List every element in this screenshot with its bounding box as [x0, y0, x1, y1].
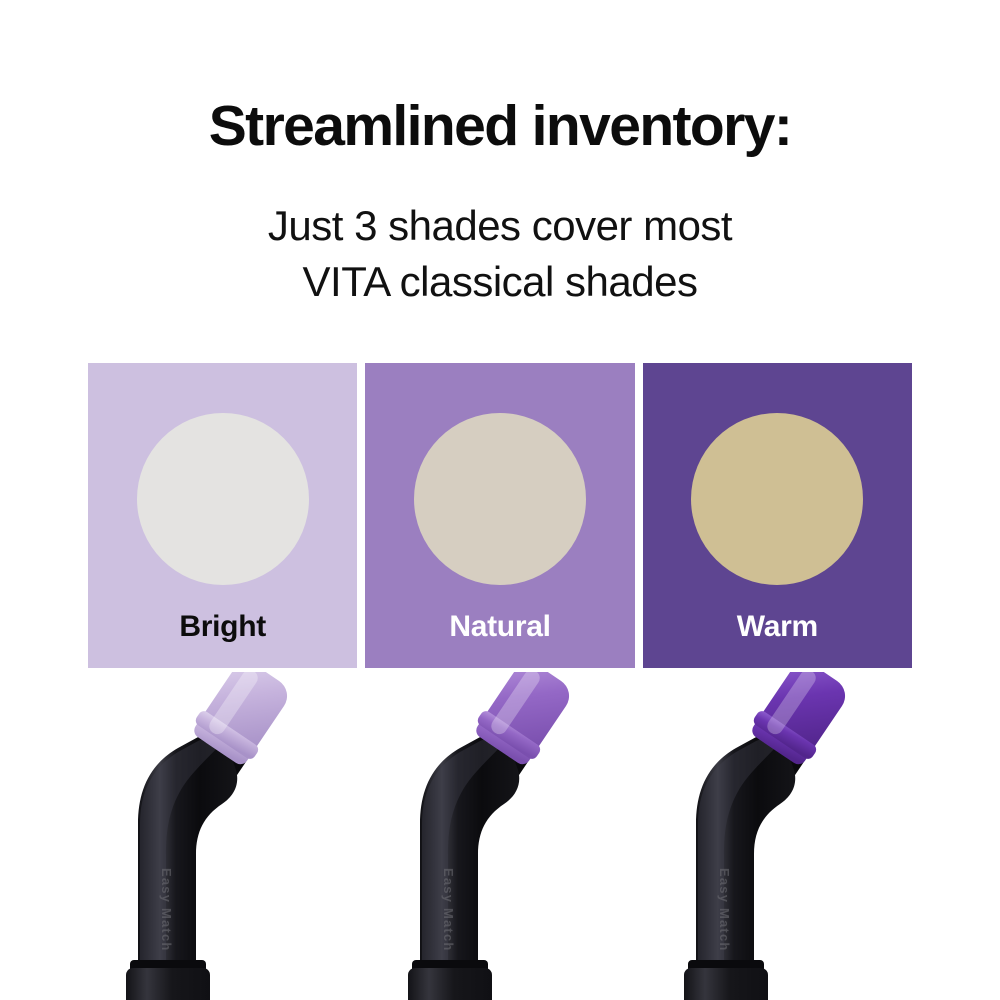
page-subtitle-line-1: Just 3 shades cover most	[0, 198, 1000, 254]
shade-label-bright: Bright	[88, 610, 357, 644]
capsule-warm: Easy Match	[646, 672, 920, 1000]
shade-disc-warm	[691, 413, 863, 585]
shade-swatch-warm[interactable]: Warm	[643, 363, 912, 668]
shade-label-warm: Warm	[643, 610, 912, 644]
shade-swatch-bright[interactable]: Bright	[88, 363, 357, 668]
shade-disc-natural	[414, 413, 586, 585]
capsule-emboss-text-warm: Easy Match	[717, 868, 732, 952]
capsule-row: Easy Match	[88, 672, 912, 1000]
shade-swatch-row: Bright Natural Warm	[88, 363, 912, 668]
page-title: Streamlined inventory:	[0, 96, 1000, 156]
capsule-bright-image: Easy Match	[88, 672, 362, 1000]
poster-canvas: Streamlined inventory: Just 3 shades cov…	[0, 0, 1000, 1000]
capsule-bright: Easy Match	[88, 672, 362, 1000]
capsule-emboss-text-bright: Easy Match	[159, 868, 174, 952]
shade-label-natural: Natural	[365, 610, 634, 644]
shade-disc-bright	[137, 413, 309, 585]
page-subtitle: Just 3 shades cover most VITA classical …	[0, 198, 1000, 310]
capsule-emboss-text-natural: Easy Match	[441, 868, 456, 952]
capsule-natural: Easy Match	[370, 672, 644, 1000]
capsule-natural-image: Easy Match	[370, 672, 644, 1000]
shade-swatch-natural[interactable]: Natural	[365, 363, 634, 668]
page-subtitle-line-2: VITA classical shades	[0, 254, 1000, 310]
capsule-warm-image: Easy Match	[646, 672, 920, 1000]
